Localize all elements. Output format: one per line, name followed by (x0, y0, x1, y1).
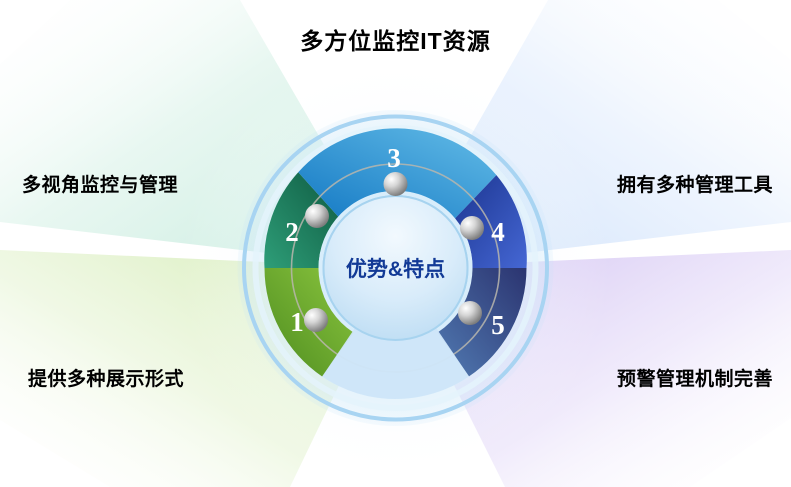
label-multiple-display-forms: 提供多种展示形式 (28, 364, 184, 391)
segment-number-2: 2 (285, 217, 299, 247)
marker-ball-5[interactable] (458, 301, 482, 325)
cycle-wheel: 1 2 3 4 5 优势&特点 (0, 0, 791, 487)
segment-number-4: 4 (491, 217, 505, 247)
label-alert-mechanism: 预警管理机制完善 (617, 364, 773, 391)
marker-ball-4[interactable] (460, 216, 484, 240)
marker-ball-1[interactable] (304, 308, 328, 332)
marker-ball-3[interactable] (384, 172, 408, 196)
segment-number-1: 1 (290, 307, 304, 337)
label-management-tools: 拥有多种管理工具 (617, 170, 773, 197)
page-title: 多方位监控IT资源 (0, 22, 791, 56)
segment-number-3: 3 (387, 143, 401, 173)
center-label: 优势&特点 (346, 257, 445, 281)
segment-number-5: 5 (491, 310, 505, 340)
label-multi-view-monitoring: 多视角监控与管理 (22, 170, 178, 197)
infographic-canvas: 1 2 3 4 5 优势&特点 多方位监控IT资源 多视角监控与管理 提供多种展… (0, 0, 791, 487)
marker-ball-2[interactable] (305, 204, 329, 228)
